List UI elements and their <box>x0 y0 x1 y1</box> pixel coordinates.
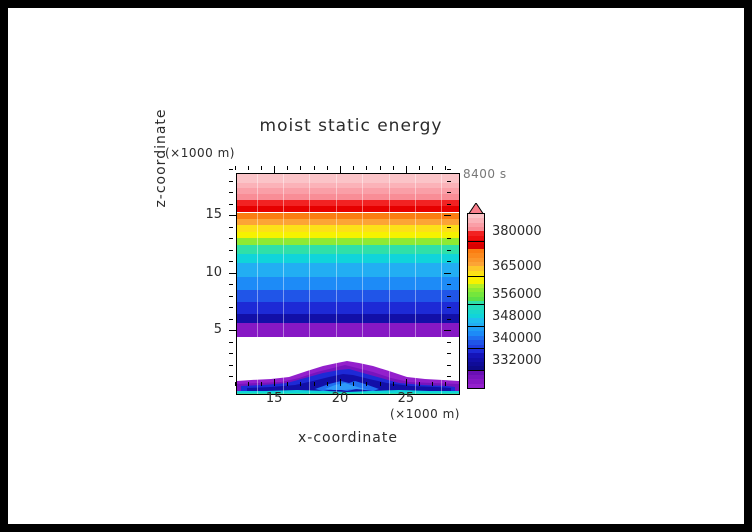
axis-tick <box>340 166 341 173</box>
axis-tick <box>274 166 275 173</box>
y-axis-unit-label: (×1000 m) <box>165 146 235 160</box>
colorbar-level-rule <box>468 370 484 371</box>
axis-tick <box>229 273 236 274</box>
axis-tick <box>353 166 354 170</box>
axis-tick <box>419 166 420 170</box>
axis-tick <box>447 238 451 239</box>
axis-tick <box>406 166 407 173</box>
axis-tick <box>314 166 315 170</box>
axis-tick <box>447 227 451 228</box>
axis-tick <box>229 227 233 228</box>
colorbar-segment <box>468 384 484 389</box>
axis-tick <box>447 204 451 205</box>
axis-tick <box>445 382 446 386</box>
axis-tick <box>248 166 249 170</box>
axis-tick <box>380 166 381 170</box>
contour-band <box>237 263 459 277</box>
x-tick-label: 25 <box>386 391 426 406</box>
colorbar-level-rule <box>468 276 484 277</box>
contour-band <box>237 225 459 232</box>
colorbar-level-rule <box>468 326 484 327</box>
colorbar-level-rule <box>468 304 484 305</box>
axis-tick <box>393 166 394 170</box>
axis-tick <box>229 296 233 297</box>
axis-tick <box>229 342 233 343</box>
axis-tick <box>366 382 367 386</box>
contour-band <box>237 302 459 314</box>
colorbar-label: 340000 <box>492 331 542 346</box>
page-title: moist static energy <box>241 116 461 136</box>
y-axis-title: z-coordinate <box>153 98 169 218</box>
axis-tick <box>229 365 233 366</box>
x-axis-unit-label: (×1000 m) <box>390 407 460 421</box>
contour-band <box>237 254 459 263</box>
axis-tick <box>229 238 233 239</box>
x-tick-label: 15 <box>254 391 294 406</box>
axis-tick <box>447 307 451 308</box>
axis-tick <box>447 169 451 170</box>
axis-tick <box>287 382 288 386</box>
axis-tick <box>447 181 451 182</box>
gridline <box>336 174 337 394</box>
gridline <box>362 174 363 394</box>
axis-tick <box>300 166 301 170</box>
axis-tick <box>380 382 381 386</box>
axis-tick <box>229 284 233 285</box>
axis-tick <box>447 376 451 377</box>
axis-tick <box>447 342 451 343</box>
gridline <box>415 174 416 394</box>
plume-contours <box>237 353 459 394</box>
lower-plume-field <box>237 353 459 394</box>
contour-band <box>237 245 459 254</box>
gridline <box>389 174 390 394</box>
axis-tick <box>229 181 233 182</box>
colorbar-level-rule <box>468 348 484 349</box>
axis-tick <box>300 382 301 386</box>
contour-band <box>237 174 459 183</box>
axis-tick <box>229 250 233 251</box>
axis-tick <box>248 382 249 386</box>
contour-plot-area <box>236 173 460 395</box>
y-tick-label: 15 <box>192 207 222 222</box>
axis-tick <box>432 382 433 386</box>
axis-tick <box>406 379 407 386</box>
axis-tick <box>447 365 451 366</box>
axis-tick <box>447 319 451 320</box>
axis-tick <box>314 382 315 386</box>
y-tick-label: 5 <box>192 322 222 337</box>
axis-tick <box>229 319 233 320</box>
contour-band <box>237 206 459 213</box>
axis-tick <box>444 215 451 216</box>
contour-band <box>237 277 459 290</box>
axis-tick <box>229 307 233 308</box>
gridline <box>257 174 258 394</box>
axis-tick <box>353 382 354 386</box>
contour-band <box>237 213 459 220</box>
axis-tick <box>235 166 236 170</box>
y-tick-label: 10 <box>192 265 222 280</box>
axis-tick <box>444 330 451 331</box>
axis-tick <box>366 166 367 170</box>
colorbar-level-rule <box>468 241 484 242</box>
contour-band <box>237 323 459 337</box>
axis-tick <box>261 382 262 386</box>
gridline <box>283 174 284 394</box>
axis-tick <box>229 169 233 170</box>
axis-tick <box>432 166 433 170</box>
axis-tick <box>447 250 451 251</box>
axis-tick <box>229 376 233 377</box>
axis-tick <box>327 382 328 386</box>
axis-tick <box>340 379 341 386</box>
axis-tick <box>229 204 233 205</box>
axis-tick <box>419 382 420 386</box>
axis-tick <box>235 382 236 386</box>
axis-tick <box>274 379 275 386</box>
axis-tick <box>447 192 451 193</box>
colorbar-label: 332000 <box>492 353 542 368</box>
time-annotation: 8400 s <box>463 167 507 181</box>
gridline <box>309 174 310 394</box>
figure-canvas: moist static energy (×1000 m) 8400 s z-c… <box>8 8 744 524</box>
colorbar-label: 348000 <box>492 309 542 324</box>
gridline <box>441 174 442 394</box>
colorbar <box>467 213 485 389</box>
colorbar-label: 365000 <box>492 259 542 274</box>
x-tick-label: 20 <box>320 391 360 406</box>
axis-tick <box>229 330 236 331</box>
axis-tick <box>229 215 236 216</box>
axis-tick <box>447 284 451 285</box>
axis-tick <box>327 166 328 170</box>
contour-band <box>237 290 459 303</box>
colorbar-label: 356000 <box>492 287 542 302</box>
axis-tick <box>393 382 394 386</box>
axis-tick <box>229 353 233 354</box>
axis-tick <box>229 261 233 262</box>
axis-tick <box>444 273 451 274</box>
axis-tick <box>287 166 288 170</box>
axis-tick <box>229 192 233 193</box>
contour-band <box>237 314 459 323</box>
x-axis-title: x-coordinate <box>236 430 460 446</box>
contour-band <box>237 238 459 245</box>
axis-tick <box>261 166 262 170</box>
axis-tick <box>447 353 451 354</box>
colorbar-label: 380000 <box>492 224 542 239</box>
axis-tick <box>447 261 451 262</box>
axis-tick <box>447 296 451 297</box>
upper-stratification-field <box>237 174 459 333</box>
